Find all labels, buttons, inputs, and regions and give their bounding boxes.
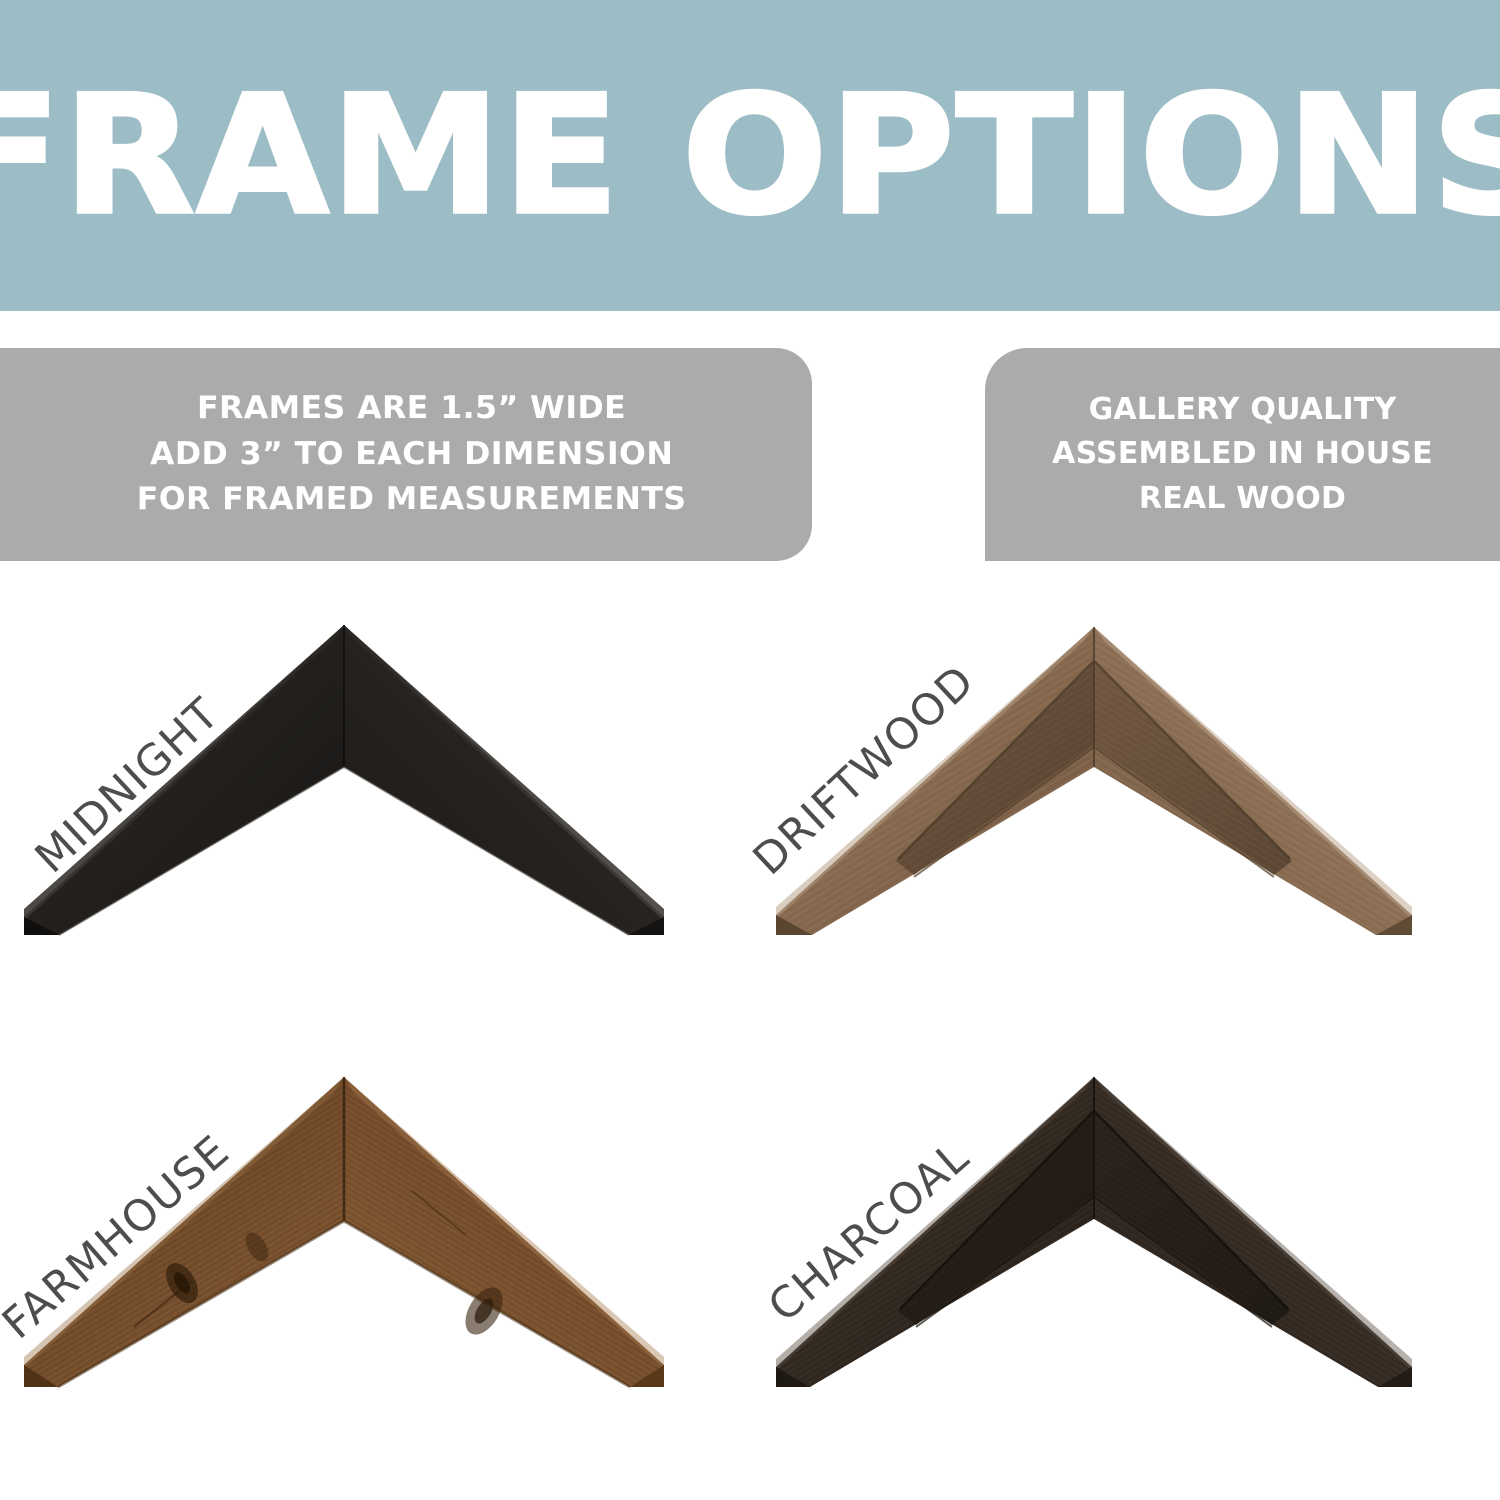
info-line: ASSEMBLED IN HOUSE: [1052, 432, 1433, 476]
frame-width-info-text: FRAMES ARE 1.5” WIDE ADD 3” TO EACH DIME…: [126, 386, 686, 524]
frame-option-charcoal[interactable]: CHARCOAL: [750, 1027, 1500, 1489]
quality-info-box: GALLERY QUALITY ASSEMBLED IN HOUSE REAL …: [985, 348, 1500, 561]
frame-option-driftwood[interactable]: DRIFTWOOD: [750, 575, 1500, 1037]
frame-option-midnight[interactable]: MIDNIGHT: [0, 575, 750, 1037]
quality-info-text: GALLERY QUALITY ASSEMBLED IN HOUSE REAL …: [1052, 388, 1433, 521]
info-line: FRAMES ARE 1.5” WIDE: [136, 386, 686, 432]
page-title: FRAME OPTIONS: [0, 73, 1500, 237]
info-line: GALLERY QUALITY: [1052, 388, 1433, 432]
frame-width-info-box: FRAMES ARE 1.5” WIDE ADD 3” TO EACH DIME…: [0, 348, 812, 561]
infographic-page: FRAME OPTIONS FRAMES ARE 1.5” WIDE ADD 3…: [0, 0, 1500, 1500]
frame-option-farmhouse[interactable]: FARMHOUSE: [0, 1027, 750, 1489]
frame-options-grid: MIDNIGHT: [0, 575, 1500, 1500]
info-line: REAL WOOD: [1052, 477, 1433, 521]
info-line: ADD 3” TO EACH DIMENSION: [136, 432, 686, 478]
header-banner: FRAME OPTIONS: [0, 0, 1500, 311]
info-line: FOR FRAMED MEASUREMENTS: [136, 477, 686, 523]
